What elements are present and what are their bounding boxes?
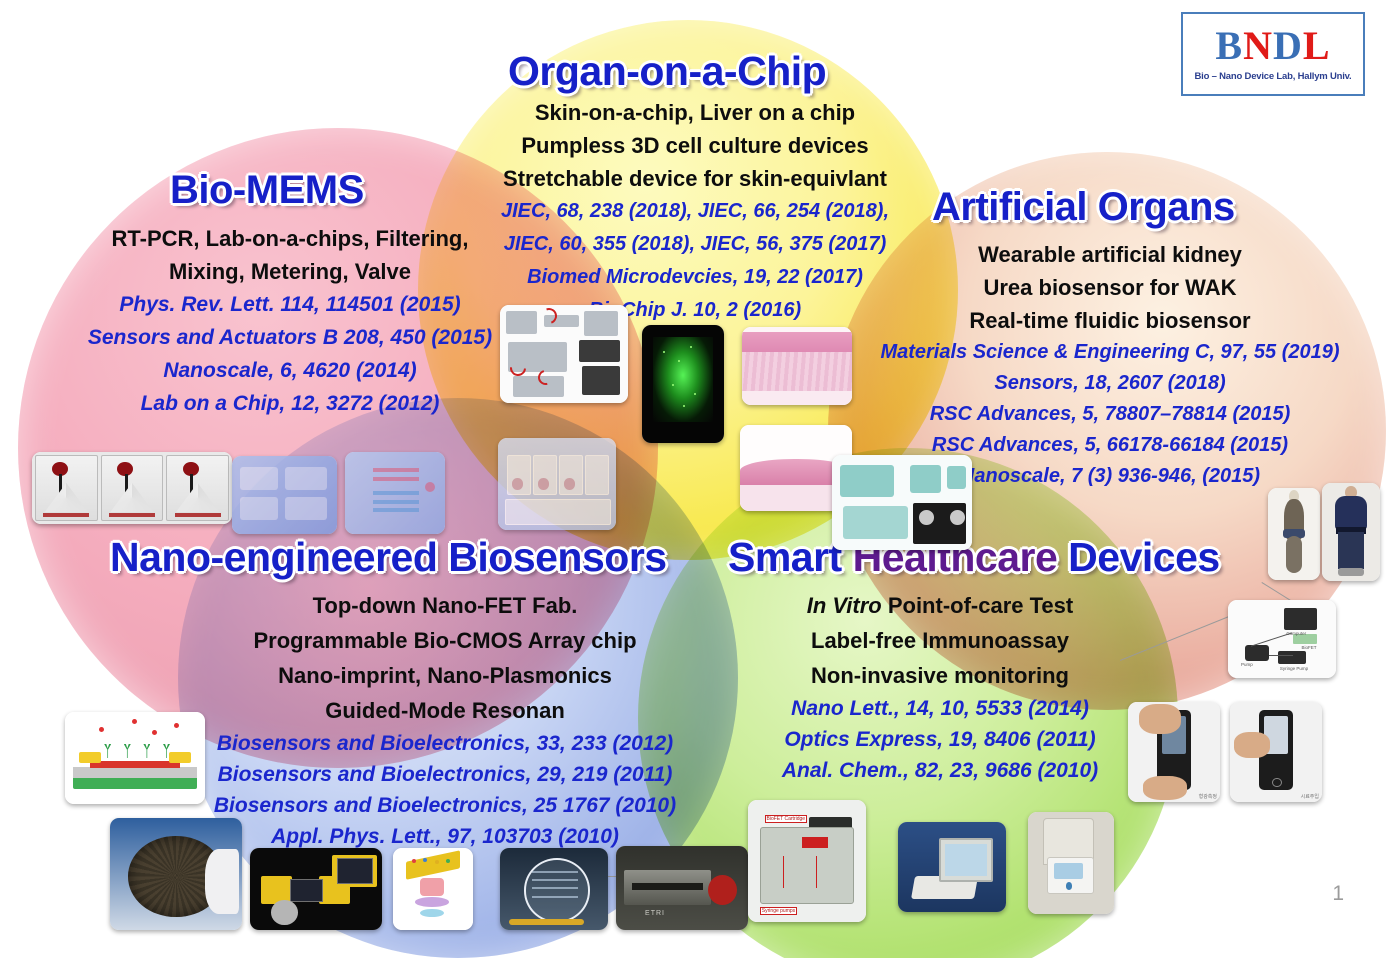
- silicon-wafer-photo: [110, 818, 242, 930]
- bndl-logo: BNDL Bio – Nano Device Lab, Hallym Univ.: [1181, 12, 1365, 96]
- section-title-bio-mems: Bio-MEMS: [170, 168, 364, 213]
- citation-line: JIEC, 68, 238 (2018), JIEC, 66, 254 (201…: [470, 195, 920, 228]
- topic-line: Nano-imprint, Nano-Plasmonics: [175, 658, 715, 693]
- lens-wafer-photo: [500, 848, 608, 930]
- topic-line: Label-free Immunoassay: [740, 623, 1140, 658]
- topic-line: Guided-Mode Resonan: [175, 693, 715, 728]
- section-body-smart-healthcare: In Vitro Point-of-care Test Label-free I…: [740, 588, 1140, 786]
- topic-line: Mixing, Metering, Valve: [80, 255, 500, 288]
- citation-line: Biosensors and Bioelectronics, 29, 219 (…: [175, 759, 715, 790]
- nanoimprint-pillar-schematic: [393, 848, 473, 930]
- section-body-bio-mems: RT-PCR, Lab-on-a-chips, Filtering, Mixin…: [80, 222, 500, 420]
- citation-line: Nano Lett., 14, 10, 5533 (2014): [740, 693, 1140, 724]
- logo-letter-n: N: [1243, 23, 1273, 68]
- citation-line: Phys. Rev. Lett. 114, 114501 (2015): [80, 288, 500, 321]
- topic-line: In Vitro Point-of-care Test: [740, 588, 1140, 623]
- slide-canvas: Computer BioFET Pump Syringe Pump: [0, 0, 1400, 958]
- benchtop-reader-photo: [1028, 812, 1114, 914]
- citation-line: Sensors, 18, 2607 (2018): [855, 368, 1365, 399]
- urea-biosensor-device-photo: [832, 455, 972, 550]
- smartphone-reader-photo-2: 시료주입: [1230, 702, 1322, 802]
- biofet-cartridge-instrument-photo: BioFET Cartridge Syringe pumps: [748, 800, 866, 922]
- citation-line: Biosensors and Bioelectronics, 33, 233 (…: [175, 728, 715, 759]
- topic-line: Stretchable device for skin-equivlant: [470, 162, 920, 195]
- logo-letter-l: L: [1303, 23, 1331, 68]
- citation-line: Optics Express, 19, 8406 (2011): [740, 724, 1140, 755]
- topic-line: RT-PCR, Lab-on-a-chips, Filtering,: [80, 222, 500, 255]
- logo-subtitle: Bio – Nano Device Lab, Hallym Univ.: [1194, 71, 1351, 82]
- section-body-nano-biosensors: Top-down Nano-FET Fab. Programmable Bio-…: [175, 588, 715, 852]
- metal-cartridge-photo: ETRI: [616, 846, 748, 930]
- logo-letter-d: D: [1273, 23, 1303, 68]
- page-number: 1: [1332, 882, 1344, 906]
- section-title-artificial-organs: Artificial Organs: [932, 185, 1235, 230]
- topic-line: Wearable artificial kidney: [855, 238, 1365, 271]
- section-title-organ-on-a-chip: Organ-on-a-Chip: [508, 48, 826, 95]
- mannequin-wearable-kidney-photo: [1268, 488, 1320, 580]
- topic-line: Real-time fluidic biosensor: [855, 304, 1365, 337]
- topic-line: Urea biosensor for WAK: [855, 271, 1365, 304]
- section-title-nano-biosensors: Nano-engineered Biosensors: [110, 534, 667, 581]
- topic-emphasis: In Vitro: [807, 593, 882, 618]
- topic-line: Pumpless 3D cell culture devices: [470, 129, 920, 162]
- photo-caption: 시료주입: [1301, 793, 1319, 800]
- citation-line: Materials Science & Engineering C, 97, 5…: [855, 337, 1365, 368]
- topic-line: Skin-on-a-chip, Liver on a chip: [470, 96, 920, 129]
- blue-serpentine-chip-photo: [345, 452, 445, 534]
- person-wearable-kidney-photo: [1322, 483, 1380, 581]
- citation-line: Lab on a Chip, 12, 3272 (2012): [80, 387, 500, 420]
- dialysis-setup-diagram: Computer BioFET Pump Syringe Pump: [1228, 600, 1336, 678]
- blue-microfluidic-chip-photo: [232, 456, 337, 534]
- topic-line: Programmable Bio-CMOS Array chip: [175, 623, 715, 658]
- citation-line: RSC Advances, 5, 78807–78814 (2015): [855, 399, 1365, 430]
- section-title-smart-healthcare: Smart Healthcare Devices: [728, 534, 1220, 581]
- citation-line: Nanoscale, 6, 4620 (2014): [80, 354, 500, 387]
- confocal-cell-image: [642, 325, 724, 443]
- topic-line: Top-down Nano-FET Fab.: [175, 588, 715, 623]
- citation-line: JIEC, 60, 355 (2018), JIEC, 56, 375 (201…: [470, 228, 920, 261]
- skin-histology-image-1: [742, 327, 852, 405]
- cell-culture-device-photo: [498, 438, 616, 530]
- section-body-artificial-organs: Wearable artificial kidney Urea biosenso…: [855, 238, 1365, 492]
- citation-line: Sensors and Actuators B 208, 450 (2015): [80, 321, 500, 354]
- citation-line: Biosensors and Bioelectronics, 25 1767 (…: [175, 790, 715, 821]
- section-body-organ-on-a-chip: Skin-on-a-chip, Liver on a chip Pumpless…: [470, 96, 920, 327]
- pcr-chip-photo: [32, 452, 232, 524]
- logo-letter-b: B: [1215, 23, 1243, 68]
- logo-letters: BNDL: [1215, 26, 1330, 66]
- stretching-apparatus-photo: [500, 305, 628, 403]
- topic-text: Point-of-care Test: [882, 593, 1074, 618]
- citation-line: Anal. Chem., 82, 23, 9686 (2010): [740, 755, 1140, 786]
- smartphone-reader-photo-1: 형광측정: [1128, 702, 1220, 802]
- portable-pda-reader-photo: [898, 822, 1006, 912]
- citation-line: Biomed Microdevcies, 19, 22 (2017): [470, 261, 920, 294]
- topic-line: Non-invasive monitoring: [740, 658, 1140, 693]
- photo-caption: 형광측정: [1199, 793, 1217, 800]
- nano-fet-schematic: [65, 712, 205, 804]
- etri-cmos-chip-photo: [250, 848, 382, 930]
